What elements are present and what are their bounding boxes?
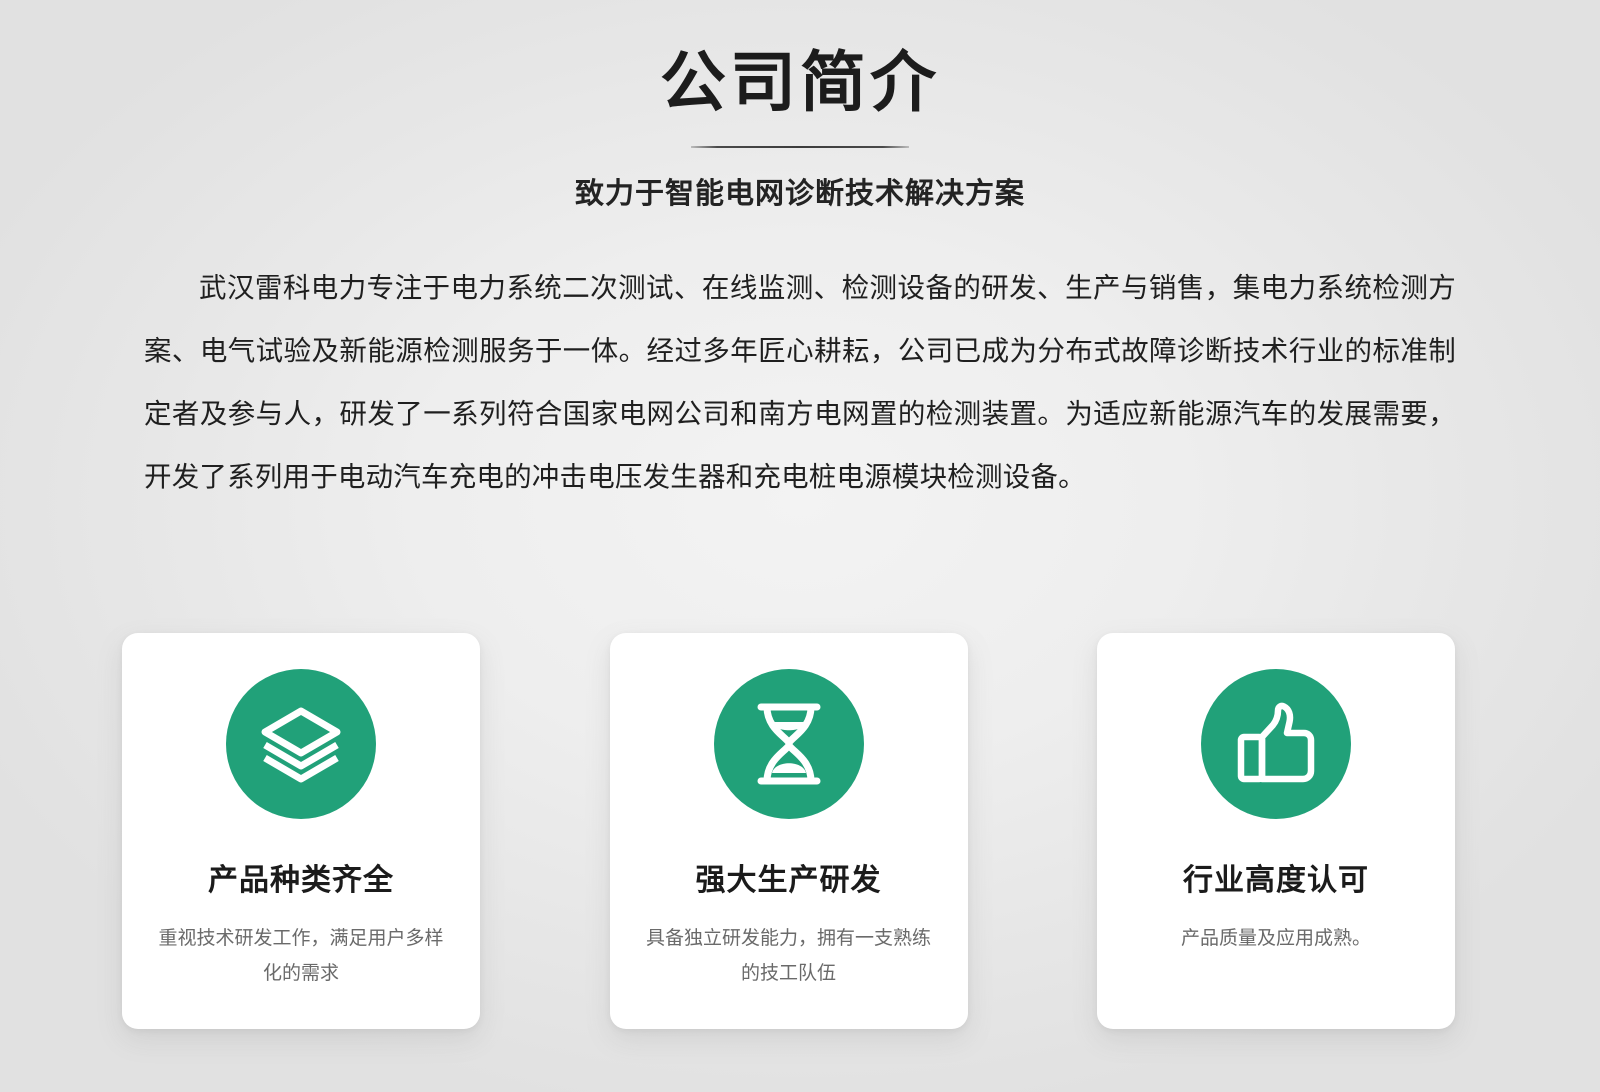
page-title: 公司简介 [0,44,1600,122]
intro-paragraph: 武汉雷科电力专注于电力系统二次测试、在线监测、检测设备的研发、生产与销售，集电力… [144,256,1456,508]
feature-card-desc: 重视技术研发工作，满足用户多样化的需求 [151,921,451,991]
feature-card-title: 强大生产研发 [696,855,882,899]
page-subtitle: 致力于智能电网诊断技术解决方案 [0,170,1600,212]
feature-card-title: 行业高度认可 [1183,855,1369,899]
feature-card-desc: 具备独立研发能力，拥有一支熟练的技工队伍 [639,921,939,991]
company-profile-page: 公司简介 致力于智能电网诊断技术解决方案 武汉雷科电力专注于电力系统二次测试、在… [0,0,1600,1092]
feature-card[interactable]: 产品种类齐全 重视技术研发工作，满足用户多样化的需求 [122,633,480,1029]
title-divider [691,146,909,148]
layers-icon [226,669,376,819]
feature-card[interactable]: 强大生产研发 具备独立研发能力，拥有一支熟练的技工队伍 [610,633,968,1029]
section-header: 公司简介 致力于智能电网诊断技术解决方案 [0,0,1600,212]
feature-card-list: 产品种类齐全 重视技术研发工作，满足用户多样化的需求 强大生产研发 具备独立研发… [122,633,1455,1029]
feature-card-desc: 产品质量及应用成熟。 [1126,921,1426,956]
hourglass-icon [714,669,864,819]
feature-card[interactable]: 行业高度认可 产品质量及应用成熟。 [1097,633,1455,1029]
thumbs-up-icon [1201,669,1351,819]
feature-card-title: 产品种类齐全 [208,855,394,899]
